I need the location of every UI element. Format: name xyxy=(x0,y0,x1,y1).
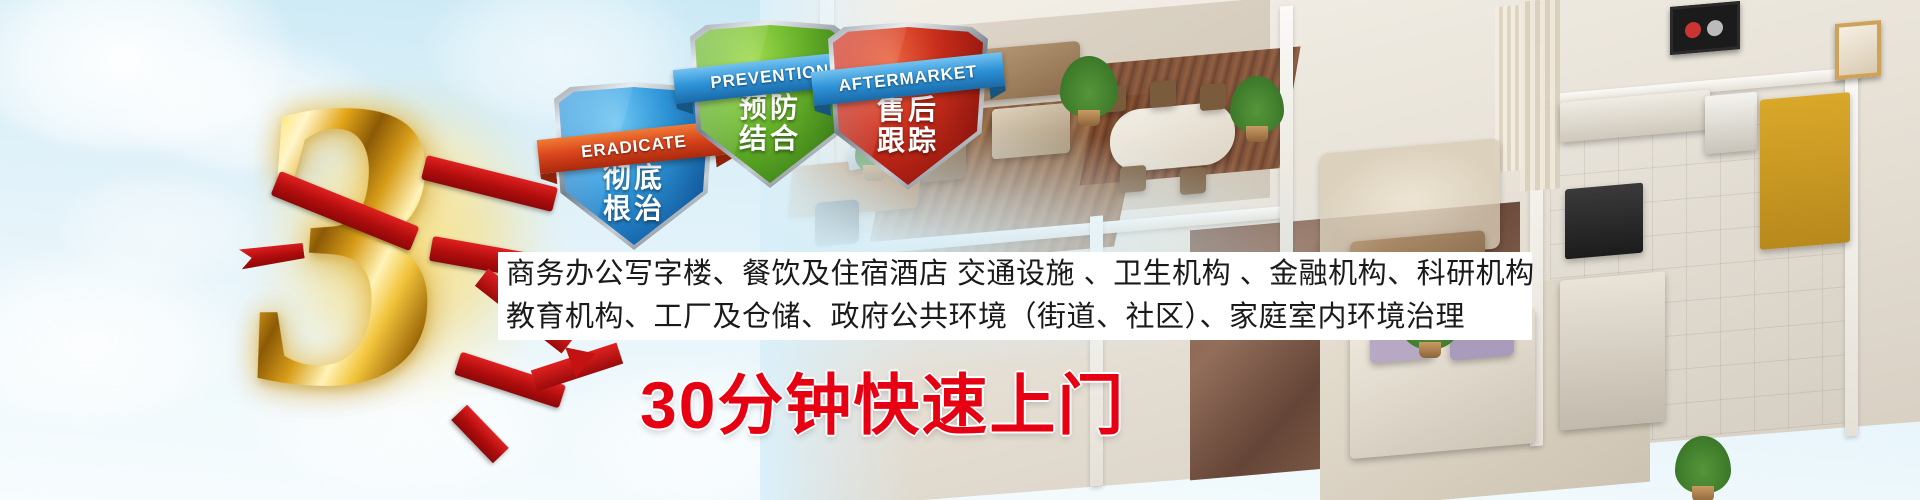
headline-text: 30分钟快速上门 xyxy=(640,352,1125,448)
promo-banner: 3 彻底 根治 ERADICATE xyxy=(0,0,1920,500)
shield-cn-line-2: 结合 xyxy=(690,123,850,154)
shield-chinese-text: 售后 跟踪 xyxy=(828,94,988,157)
shield-cn-line-2: 跟踪 xyxy=(828,125,988,156)
shield-aftermarket: 售后 跟踪 AFTERMARKET xyxy=(828,22,988,190)
service-scope-line-2: 教育机构、工厂及仓储、政府公共环境（街道、社区）、家庭室内环境治理 xyxy=(506,296,1532,340)
shield-cn-line-2: 根治 xyxy=(554,193,714,224)
shield-band-label: ERADICATE xyxy=(580,132,688,163)
service-scope-panel: 商务办公写字楼、餐饮及住宿酒店 交通设施 、卫生机构 、金融机构、科研机构 教育… xyxy=(498,252,1532,340)
service-scope-line-1: 商务办公写字楼、餐饮及住宿酒店 交通设施 、卫生机构 、金融机构、科研机构 xyxy=(506,253,1532,297)
